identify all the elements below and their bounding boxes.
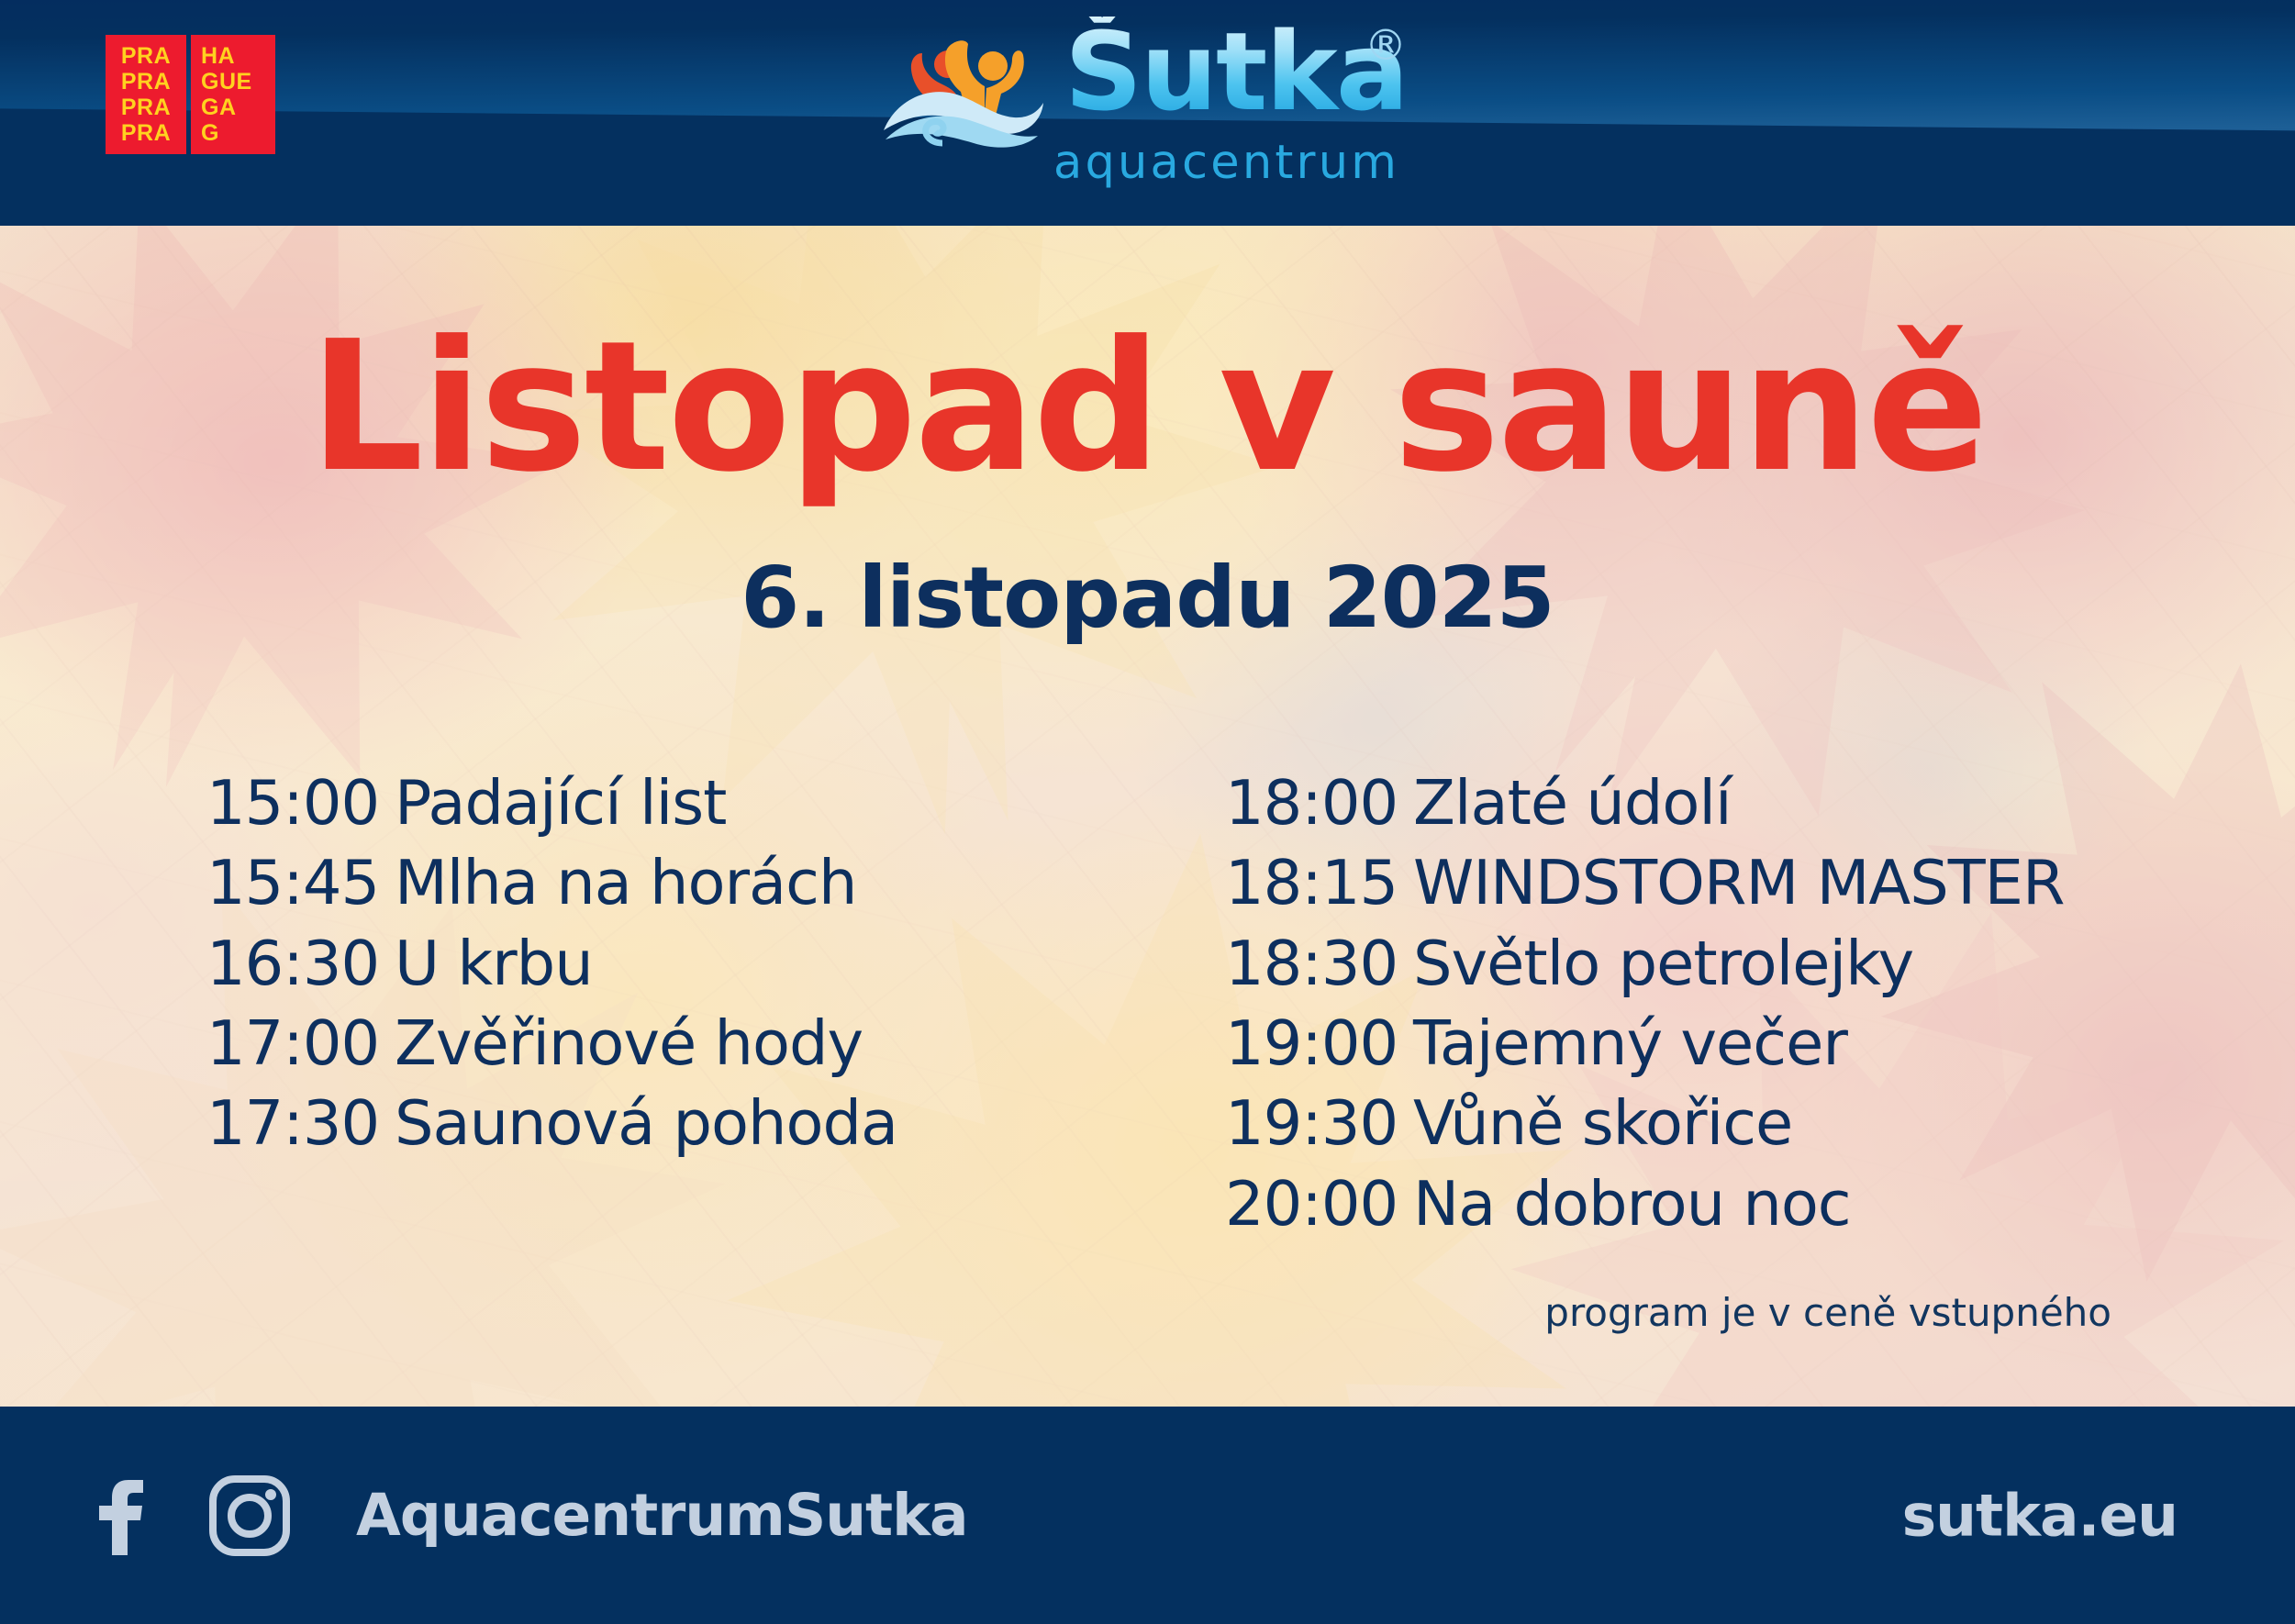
- schedule-row: 15:45 Mlha na horách: [206, 851, 1087, 914]
- price-note: program je v ceně vstupného: [0, 1290, 2295, 1335]
- prague-logo-line: GUE: [201, 71, 252, 94]
- schedule-time: 18:30: [1225, 932, 1413, 995]
- registered-trademark-icon: ®: [1365, 20, 1407, 70]
- event-date: 6. listopadu 2025: [0, 556, 2295, 640]
- schedule-name: Mlha na horách: [395, 851, 856, 914]
- schedule-row: 18:00 Zlaté údolí: [1225, 772, 2143, 834]
- schedule-name: Zvěřinové hody: [395, 1012, 863, 1074]
- schedule-name: U krbu: [395, 932, 593, 995]
- schedule-time: 19:00: [1225, 1012, 1413, 1074]
- prague-logo-line: PRA: [121, 96, 171, 119]
- schedule-row: 20:00 Na dobrou noc: [1225, 1173, 2143, 1235]
- wave-swimmers-icon: [876, 28, 1060, 156]
- prague-logo-left-block: PRA PRA PRA PRA: [106, 35, 186, 154]
- schedule-time: 17:30: [206, 1092, 395, 1154]
- schedule-row: 19:00 Tajemný večer: [1225, 1012, 2143, 1074]
- prague-logo: PRA PRA PRA PRA HA GUE GA G: [106, 35, 275, 154]
- prague-logo-line: PRA: [121, 45, 171, 68]
- schedule-name: Vůně skořice: [1413, 1092, 1792, 1154]
- schedule-column-right: 18:00 Zlaté údolí 18:15 WINDSTORM MASTER…: [1225, 772, 2143, 1252]
- prague-logo-line: GA: [201, 96, 237, 119]
- schedule-name: Padající list: [395, 772, 726, 834]
- schedule-row: 16:30 U krbu: [206, 932, 1087, 995]
- website-link[interactable]: sutka.eu: [1902, 1482, 2178, 1549]
- schedule-row: 17:00 Zvěřinové hody: [206, 1012, 1087, 1074]
- schedule-column-left: 15:00 Padající list 15:45 Mlha na horách…: [206, 772, 1087, 1252]
- schedule-time: 15:45: [206, 851, 395, 914]
- schedule-row: 15:00 Padající list: [206, 772, 1087, 834]
- schedule-row: 19:30 Vůně skořice: [1225, 1092, 2143, 1154]
- brand-subtitle: aquacentrum: [1053, 136, 1399, 190]
- prague-logo-line: HA: [201, 45, 235, 68]
- schedule-name: Zlaté údolí: [1413, 772, 1732, 834]
- schedule-name: Světlo petrolejky: [1413, 932, 1913, 995]
- schedule-time: 15:00: [206, 772, 395, 834]
- facebook-icon[interactable]: [92, 1474, 150, 1557]
- schedule-row: 18:30 Světlo petrolejky: [1225, 932, 2143, 995]
- brand-name: Šutka: [1064, 17, 1408, 127]
- schedule-row: 17:30 Saunová pohoda: [206, 1092, 1087, 1154]
- schedule-name: Na dobrou noc: [1413, 1173, 1851, 1235]
- social-handle[interactable]: AquacentrumSutka: [356, 1482, 968, 1549]
- footer-bar: AquacentrumSutka sutka.eu: [0, 1407, 2295, 1624]
- prague-logo-line: PRA: [121, 71, 171, 94]
- prague-logo-line: PRA: [121, 122, 171, 145]
- schedule-time: 18:00: [1225, 772, 1413, 834]
- prague-logo-line: G: [201, 122, 219, 145]
- schedule-name: Saunová pohoda: [395, 1092, 897, 1154]
- schedule-row: 18:15 WINDSTORM MASTER: [1225, 851, 2143, 914]
- schedule-time: 19:30: [1225, 1092, 1413, 1154]
- prague-logo-right-block: HA GUE GA G: [191, 35, 275, 154]
- schedule-name: Tajemný večer: [1413, 1012, 1847, 1074]
- schedule: 15:00 Padající list 15:45 Mlha na horách…: [0, 772, 2295, 1252]
- page-title: Listopad v sauně: [0, 317, 2295, 497]
- poster-content: Listopad v sauně 6. listopadu 2025 15:00…: [0, 226, 2295, 1407]
- schedule-name: WINDSTORM MASTER: [1413, 851, 2065, 914]
- schedule-time: 20:00: [1225, 1173, 1413, 1235]
- schedule-time: 16:30: [206, 932, 395, 995]
- instagram-icon[interactable]: [207, 1474, 292, 1558]
- schedule-time: 18:15: [1225, 851, 1413, 914]
- schedule-time: 17:00: [206, 1012, 395, 1074]
